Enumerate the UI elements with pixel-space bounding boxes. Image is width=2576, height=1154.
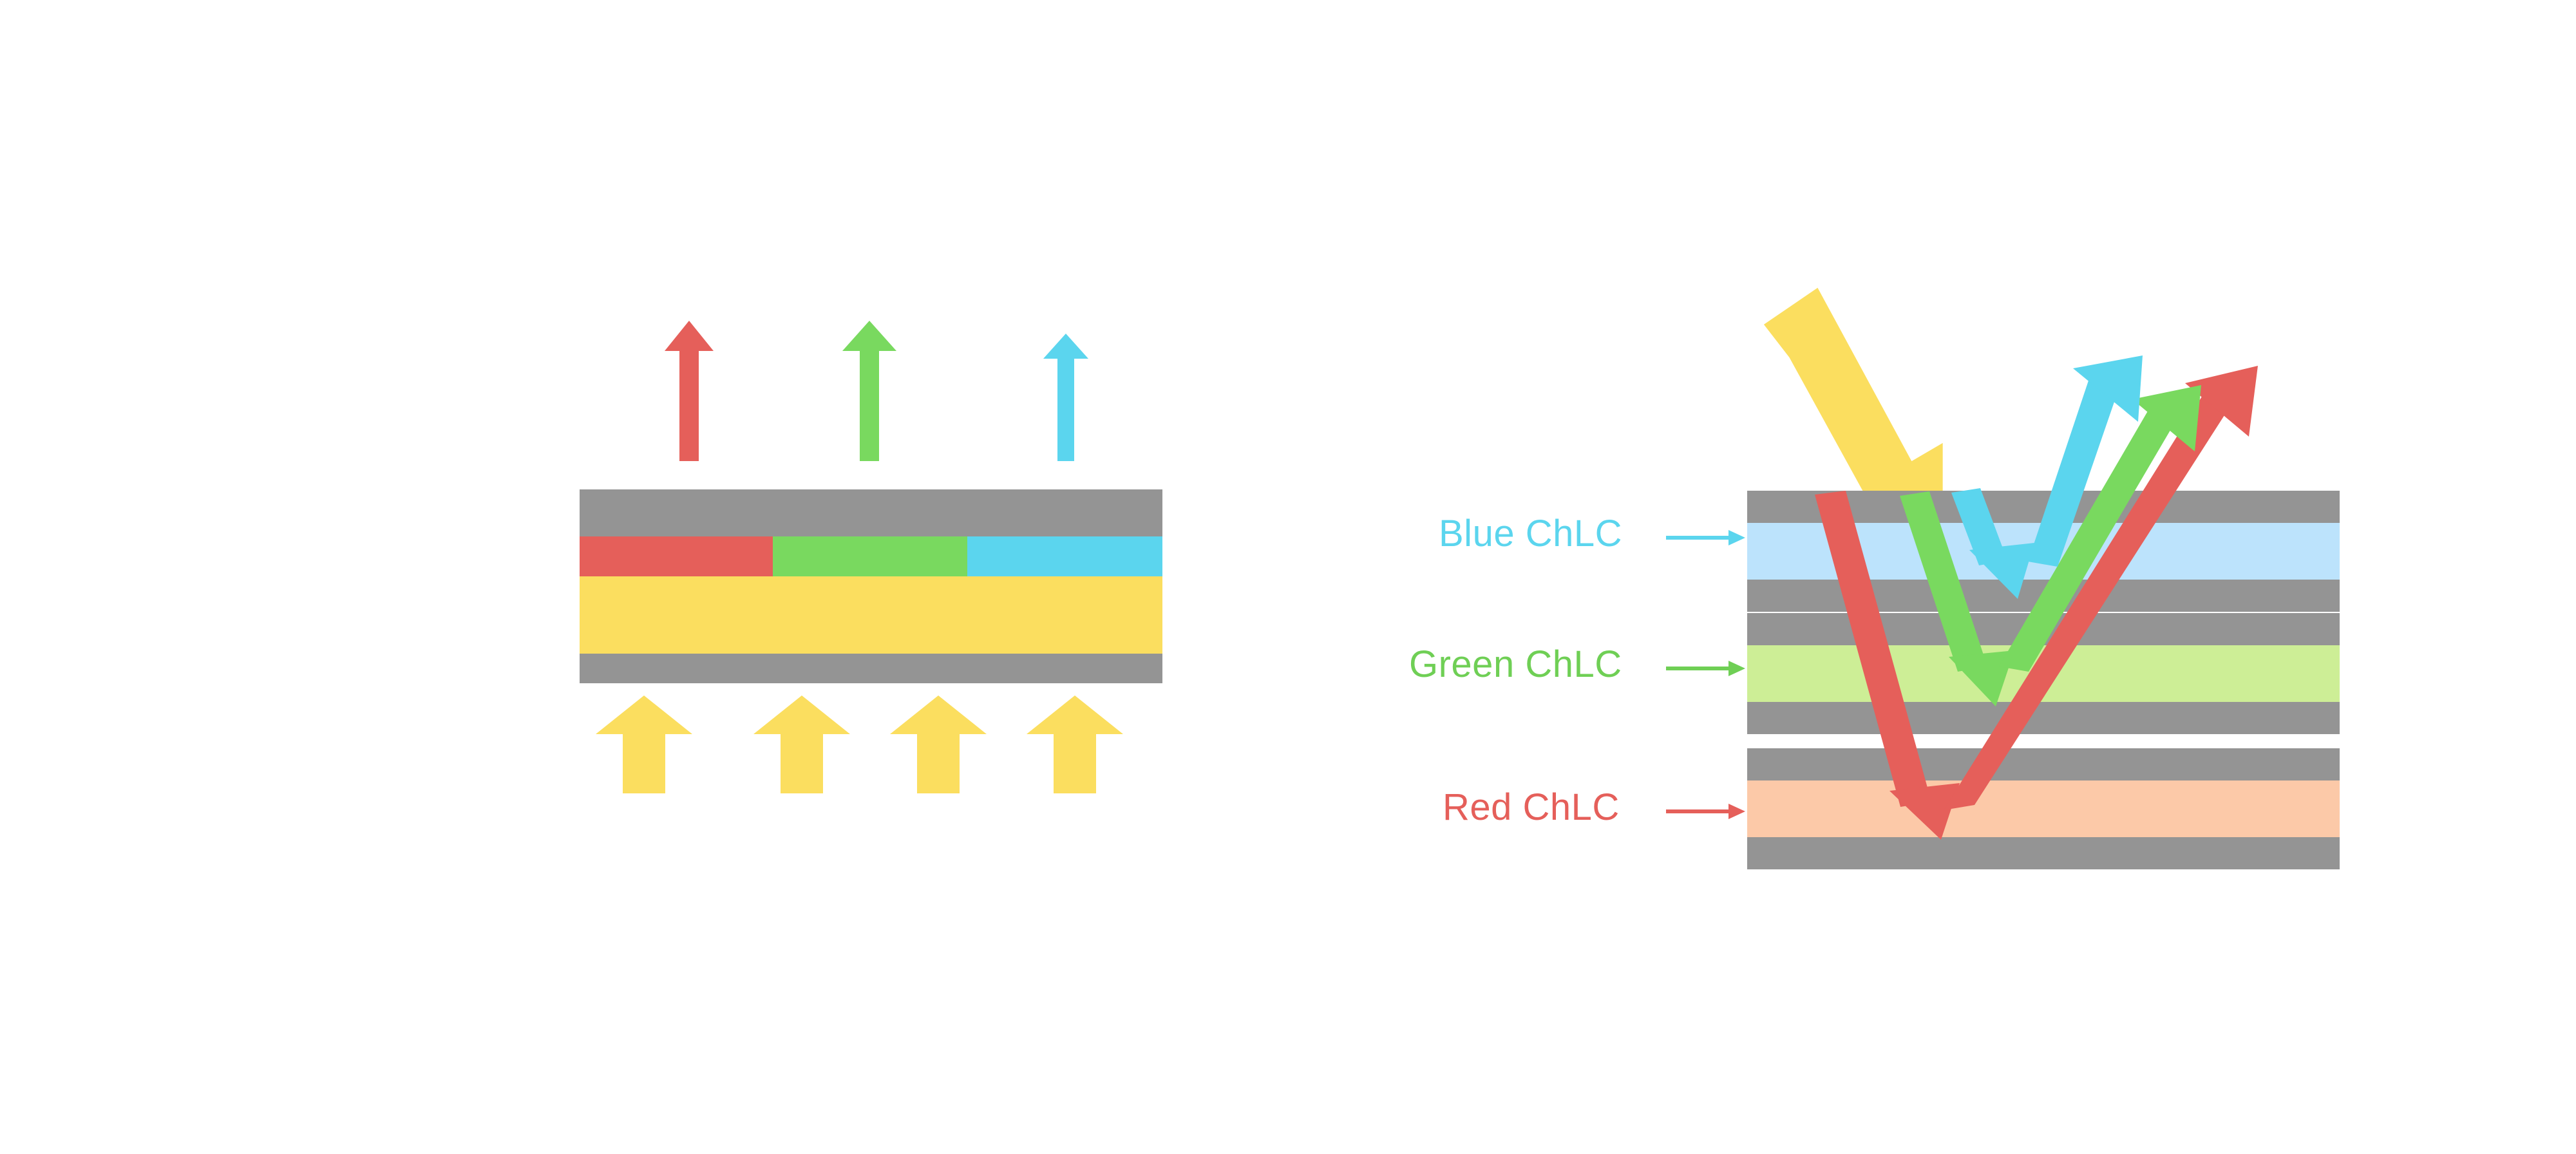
blue-label-arrow-icon [1666, 530, 1745, 545]
diagram-svg [0, 0, 2576, 1154]
red-label-arrow-icon [1666, 804, 1745, 819]
green-label-arrow-icon [1666, 661, 1745, 676]
emitted-green-arrow [842, 321, 896, 461]
red-cell-top-electrode [1747, 748, 2340, 780]
emitted-red-arrow [665, 321, 714, 461]
green-chlc-label: Green ChLC [1409, 646, 1622, 683]
right-panel-group [1666, 276, 2340, 869]
green-cell-bottom-electrode [1747, 702, 2340, 734]
red-chlc-label: Red ChLC [1443, 789, 1620, 826]
diagram-canvas: Blue ChLC Green ChLC Red ChLC [0, 0, 2576, 1154]
backlight-arrow-2 [753, 695, 850, 793]
blue-chlc-label: Blue ChLC [1439, 515, 1622, 553]
backlight-arrow-1 [596, 695, 692, 793]
color-filter-green [773, 536, 967, 576]
left-panel-group [580, 321, 1162, 793]
red-chlc-layer [1747, 780, 2340, 837]
color-filter-blue [967, 536, 1162, 576]
backlight-arrow-4 [1027, 695, 1123, 793]
backlight-layer [580, 576, 1162, 654]
top-electrode [580, 489, 1162, 536]
bottom-electrode [580, 654, 1162, 683]
red-cell-bottom-electrode [1747, 837, 2340, 869]
emitted-blue-arrow [1043, 334, 1088, 461]
color-filter-red [580, 536, 773, 576]
backlight-arrow-3 [890, 695, 987, 793]
